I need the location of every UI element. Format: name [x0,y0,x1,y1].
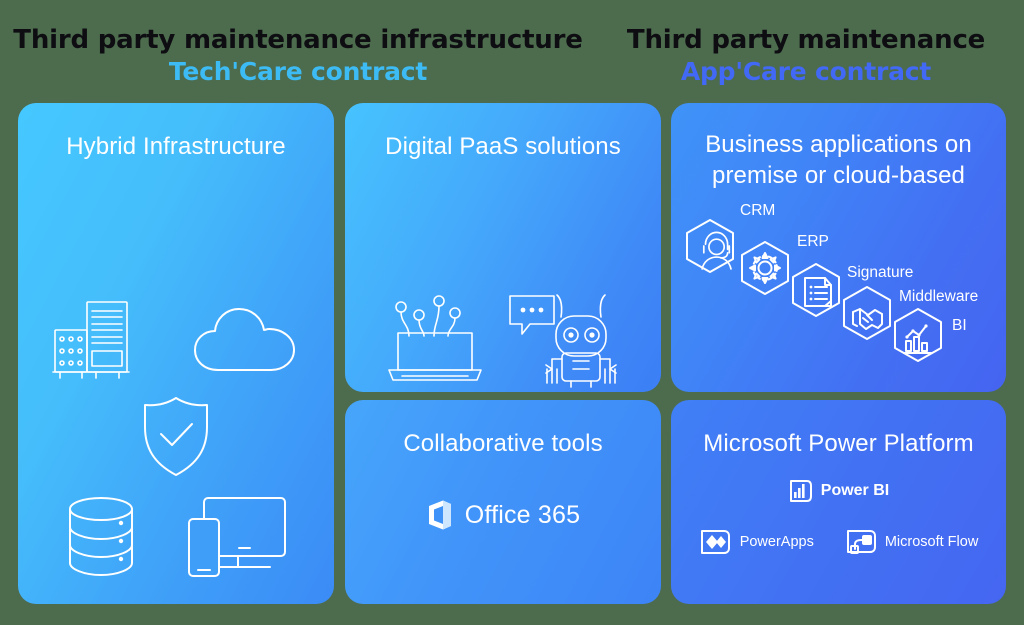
monitor-phone-icon [186,495,288,579]
microsoft-flow-product[interactable]: Microsoft Flow [844,528,978,556]
power-bi-label: Power BI [821,482,889,500]
panel-business-title: Business applications on premise or clou… [671,103,1006,191]
hex-label-bi: BI [952,317,967,335]
microsoft-flow-label: Microsoft Flow [885,534,978,550]
hex-label-erp: ERP [797,233,829,251]
microsoft-flow-icon [844,528,878,556]
chatbot-robot-icon [506,291,622,389]
iot-laptop-icon [384,291,486,389]
power-apps-label: PowerApps [740,534,814,550]
hex-label-signature: Signature [847,264,913,282]
hex-label-crm: CRM [740,202,775,220]
panel-digital-paas[interactable]: Digital PaaS solutions [345,103,661,392]
power-apps-icon [699,528,733,556]
office-365-label: Office 365 [465,501,581,530]
power-apps-product[interactable]: PowerApps [699,528,814,556]
power-bi-icon [788,478,814,504]
power-platform-logos: Power BI PowerApps [671,478,1006,556]
server-rack-icon [51,299,145,381]
hybrid-icon-set [18,299,334,604]
panel-hybrid-title: Hybrid Infrastructure [18,103,334,163]
panel-hybrid-infrastructure[interactable]: Hybrid Infrastructure [18,103,334,604]
panel-business-title-line1: Business applications on [685,130,992,161]
panels-grid: Hybrid Infrastructure [0,0,1024,625]
infographic-root: Third party maintenance infrastructure T… [0,0,1024,625]
shield-check-icon [139,395,213,479]
panel-power-title: Microsoft Power Platform [671,400,1006,460]
office-365-product[interactable]: Office 365 [345,498,661,532]
hexagon-chain: CRM ERP Signature Middleware BI [675,196,1005,386]
cloud-icon [191,304,301,376]
panel-paas-title: Digital PaaS solutions [345,103,661,163]
power-bi-product[interactable]: Power BI [788,478,889,504]
office-365-icon [426,498,454,532]
hex-label-middleware: Middleware [899,288,978,306]
panel-business-title-line2: premise or cloud-based [685,161,992,192]
database-icon [64,495,138,579]
panel-collab-title: Collaborative tools [345,400,661,460]
paas-icon-set [345,291,661,392]
